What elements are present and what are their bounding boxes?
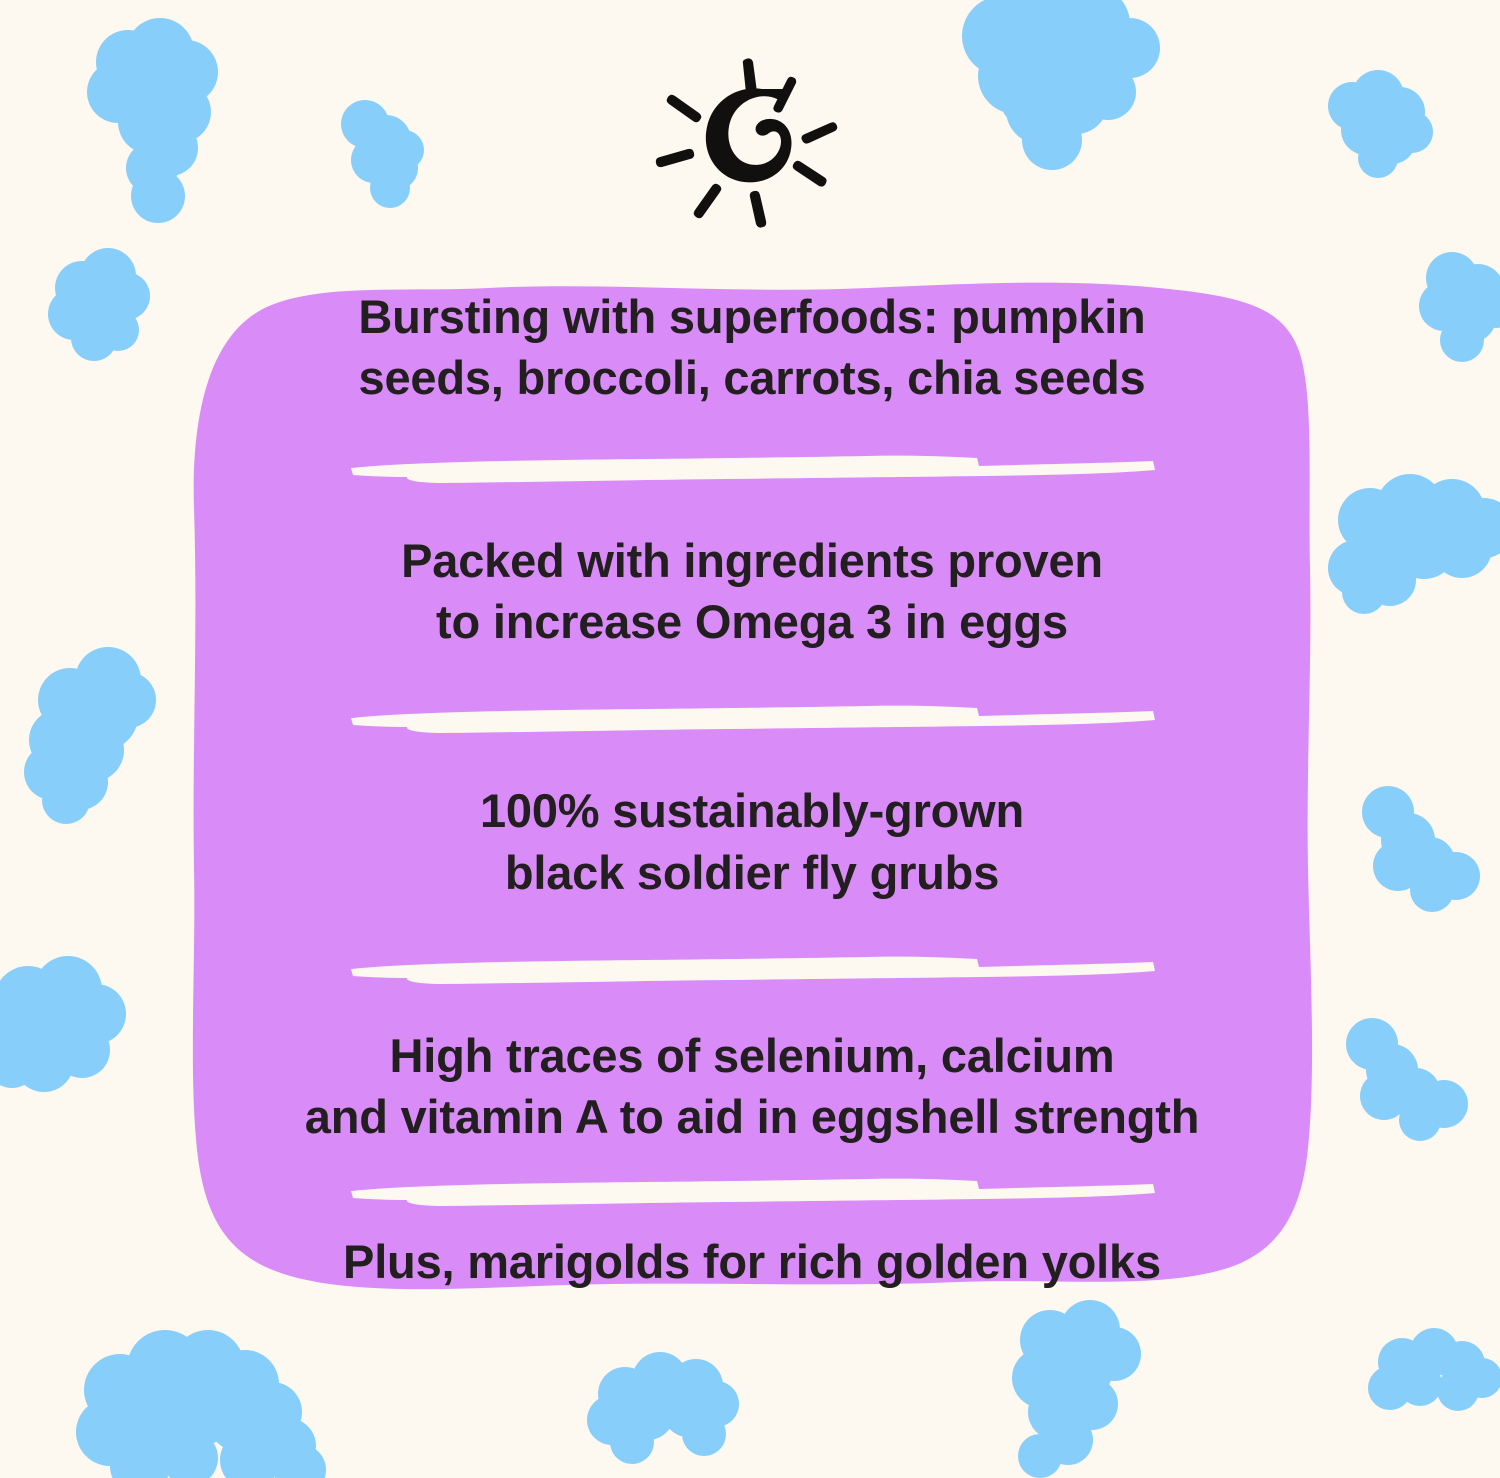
cloud-blob-bottom-far-right [1368,1328,1500,1411]
sun-ray-e [801,122,837,143]
sun-rays-group [656,58,837,227]
cloud-blob-bottom-center [587,1352,739,1464]
cloud-blob-left-upper [48,248,150,361]
divider-stroke-3 [347,953,1157,987]
cloud-blob-top-left [87,18,218,223]
divider-stroke-2 [347,702,1157,736]
sun-ray-nw [667,95,702,123]
benefit-text-1: Bursting with superfoods: pumpkin seeds,… [222,286,1282,408]
cloud-blob-right-mid [1328,474,1500,614]
cloud-blob-right-lower [1346,1018,1468,1141]
cloud-blob-bottom-right [1012,1300,1141,1478]
benefit-text-3: 100% sustainably-grown black soldier fly… [222,780,1282,902]
cloud-blob-right-upper [1419,252,1500,362]
benefit-text-5: Plus, marigolds for rich golden yolks [222,1231,1282,1292]
divider-stroke-4 [347,1175,1157,1209]
sun-with-g-logo [650,55,850,235]
card-content: Bursting with superfoods: pumpkin seeds,… [178,268,1326,1304]
cloud-blob-bottom-left [76,1330,326,1478]
cloud-blob-right-lower-mid [1362,786,1480,912]
benefit-text-4: High traces of selenium, calcium and vit… [222,1025,1282,1147]
cloud-blob-top-left-small [341,100,424,208]
benefit-text-2: Packed with ingredients proven to increa… [222,530,1282,652]
benefits-card: Bursting with superfoods: pumpkin seeds,… [178,268,1326,1304]
divider-stroke-1 [347,452,1157,486]
page-root: Bursting with superfoods: pumpkin seeds,… [0,0,1500,1478]
cloud-blob-top-right-large [962,0,1160,170]
cloud-blob-top-right [1328,70,1433,178]
sun-ray-w [656,149,694,167]
sun-ray-se [793,161,827,187]
sun-ray-s [750,191,766,228]
sun-ray-sw [694,184,722,219]
cloud-blob-left-lower [0,956,126,1092]
cloud-blob-left-mid [24,647,156,824]
